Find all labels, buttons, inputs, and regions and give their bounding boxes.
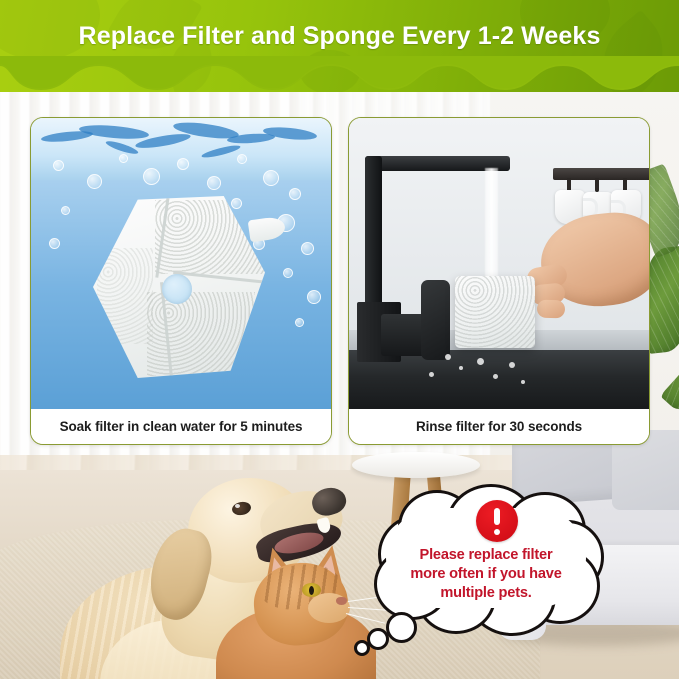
bubble-line-1: Please replace filter [382, 546, 590, 565]
caption-soak: Soak filter in clean water for 5 minutes [31, 409, 331, 444]
product-infographic: Replace Filter and Sponge Every 1-2 Week… [0, 0, 679, 679]
wave-edge [0, 56, 679, 92]
bubble-text: Please replace filter more often if you … [382, 546, 590, 603]
filter-hub [162, 274, 192, 304]
bubble-line-3: multiple pets. [382, 584, 590, 603]
thought-bubble: Please replace filter more often if you … [372, 486, 600, 628]
cat [216, 545, 396, 679]
caption-rinse: Rinse filter for 30 seconds [349, 409, 649, 444]
step-card-soak: Soak filter in clean water for 5 minutes [30, 117, 332, 445]
filter-cube [455, 276, 535, 348]
photo-filter-in-water [31, 118, 331, 409]
header-banner: Replace Filter and Sponge Every 1-2 Week… [0, 0, 679, 92]
page-title: Replace Filter and Sponge Every 1-2 Week… [0, 22, 679, 51]
step-card-rinse: Rinse filter for 30 seconds [348, 117, 650, 445]
photo-rinsing-filter [349, 118, 649, 409]
bubble-line-2: more often if you have [382, 565, 590, 584]
exclamation-icon [476, 500, 518, 542]
